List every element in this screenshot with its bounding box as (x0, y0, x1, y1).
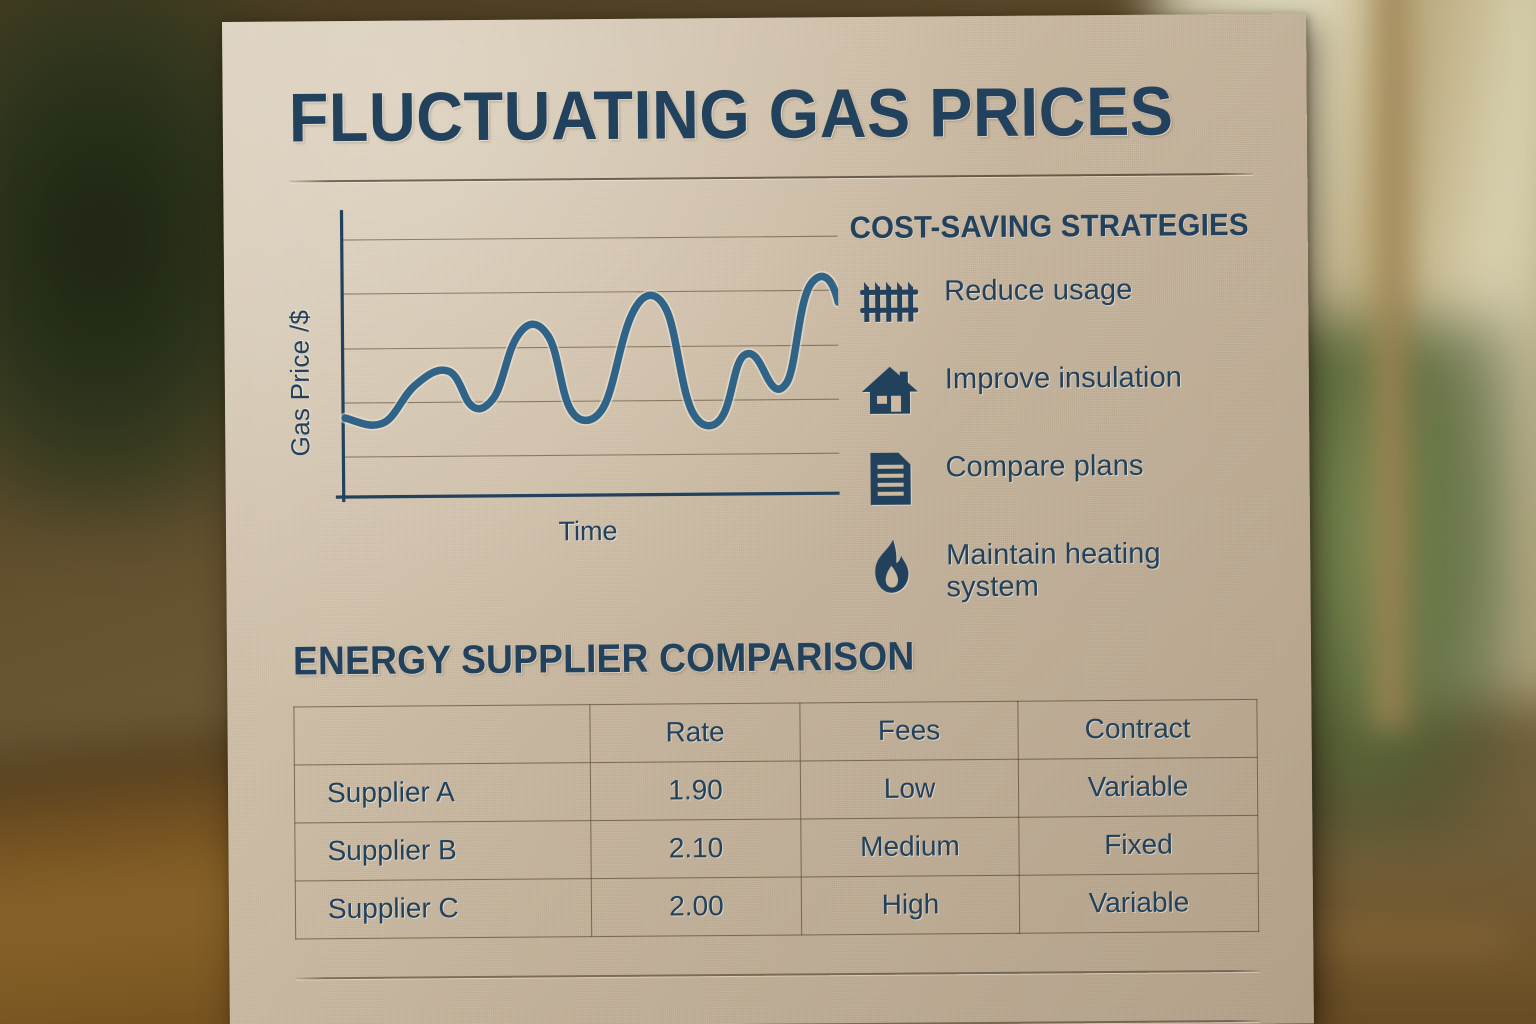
cell-fees: Medium (801, 817, 1019, 877)
table-row: Supplier C 2.00 High Variable (295, 873, 1258, 939)
cell-rate: 2.00 (591, 877, 801, 937)
cell-contract: Variable (1018, 757, 1257, 817)
cell-fees: High (801, 875, 1019, 935)
table-header-row: Rate Fees Contract (294, 699, 1257, 765)
column-header-rate: Rate (590, 703, 800, 763)
document-icon (851, 447, 929, 510)
cell-supplier-name: Supplier A (294, 763, 590, 823)
flame-icon (852, 535, 930, 598)
column-header-fees: Fees (800, 701, 1018, 761)
chart-y-axis-label: Gas Price /$ (284, 256, 317, 456)
strategy-label: Reduce usage (928, 270, 1133, 308)
cost-saving-strategies: COST-SAVING STRATEGIES (837, 203, 1272, 605)
strategy-item: Maintain heating system (852, 533, 1273, 605)
cell-fees: Low (800, 759, 1018, 819)
page-title: FLUCTUATING GAS PRICES (288, 76, 1183, 152)
house-icon (851, 359, 929, 422)
footer-divider (296, 970, 1260, 980)
title-divider (289, 173, 1253, 183)
gas-price-chart: Gas Price /$ (289, 206, 840, 609)
scene: FLUCTUATING GAS PRICES Gas Price /$ (0, 0, 1536, 1024)
strategies-heading: COST-SAVING STRATEGIES (849, 207, 1248, 246)
table-row: Supplier A 1.90 Low Variable (294, 757, 1257, 823)
cell-supplier-name: Supplier C (295, 879, 591, 939)
cell-contract: Variable (1019, 873, 1258, 933)
supplier-comparison-table: Rate Fees Contract Supplier A 1.90 Low V… (293, 699, 1259, 940)
footer-rules (296, 970, 1249, 1024)
chart-line-shadow (344, 276, 839, 428)
strategy-item: Improve insulation (851, 357, 1272, 422)
background-window-frame (1364, 0, 1418, 730)
chart-y-axis (341, 210, 343, 502)
chart-x-axis-label: Time (336, 514, 840, 549)
chart-plot-area (333, 206, 839, 510)
strategy-label: Compare plans (929, 446, 1143, 484)
footer-divider (296, 1020, 1260, 1024)
infographic-poster: FLUCTUATING GAS PRICES Gas Price /$ (222, 13, 1314, 1024)
strategy-label: Maintain heating system (930, 533, 1223, 604)
cell-rate: 1.90 (590, 761, 800, 821)
chart-x-axis (336, 493, 840, 497)
cell-supplier-name: Supplier B (295, 821, 591, 881)
strategy-item: Compare plans (851, 445, 1272, 510)
column-header-blank (294, 705, 590, 765)
radiator-icon (850, 271, 928, 334)
strategy-label: Improve insulation (929, 357, 1182, 395)
table-row: Supplier B 2.10 Medium Fixed (295, 815, 1258, 881)
cell-rate: 2.10 (591, 819, 801, 879)
comparison-heading: ENERGY SUPPLIER COMPARISON (293, 632, 1179, 684)
mid-section: Gas Price /$ (289, 203, 1244, 609)
cell-contract: Fixed (1019, 815, 1258, 875)
chart-line (344, 276, 839, 428)
strategy-item: Reduce usage (850, 269, 1271, 334)
column-header-contract: Contract (1018, 699, 1257, 759)
